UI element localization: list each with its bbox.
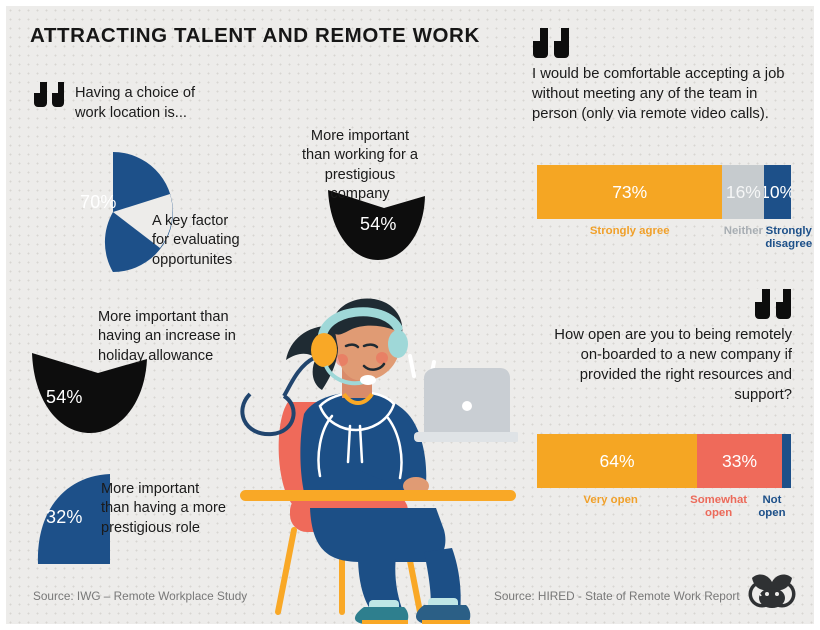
bar-segment-strongly-agree[interactable]: 73% [537,165,722,219]
source-left: Source: IWG – Remote Workplace Study [33,589,247,603]
lead-quote-block: Having a choice of work location is... [34,82,195,123]
bar-segment-very-open[interactable]: 64% [537,434,697,488]
quote-text-remote-hiring: I would be comfortable accepting a job w… [532,65,792,125]
infographic-canvas: ATTRACTING TALENT AND REMOTE WORK Having… [0,0,820,630]
stacked-bar-remote-onboarding: 64% 33% Very open Somewhat open Not open [537,434,791,521]
pie-label-54-a: More important than working for a presti… [296,127,424,204]
legend-very-open: Very open [537,494,684,521]
bar-legend-remote-hiring: Strongly agree Neither Strongly disagree [537,225,791,252]
quote-block-remote-hiring: I would be comfortable accepting a job w… [532,28,792,125]
hippo-binoculars-logo [748,568,796,612]
quote-block-remote-onboarding: How open are you to being remotely on-bo… [532,289,792,406]
quote-text-remote-onboarding: How open are you to being remotely on-bo… [532,326,792,406]
bar-track: 73% 16% 10% [537,165,791,219]
bar-segment-strongly-disagree[interactable]: 10% [764,165,791,219]
legend-strongly-disagree: Strongly disagree [764,225,813,252]
legend-not-open: Not open [753,494,791,521]
legend-strongly-agree: Strongly agree [537,225,722,252]
lead-quote-text: Having a choice of work location is... [75,82,195,123]
pie-label-54-b: More important than having an increase i… [98,308,236,366]
source-right: Source: HIRED - State of Remote Work Rep… [494,589,740,603]
quote-mark-icon [533,28,569,58]
legend-somewhat-open: Somewhat open [684,494,753,521]
pie-label-70: A key factor for evaluating opportunites [152,212,240,270]
legend-neither: Neither [722,225,764,252]
bar-legend-remote-onboarding: Very open Somewhat open Not open [537,494,791,521]
quote-mark-icon [34,82,64,107]
bar-segment-somewhat-open[interactable]: 33% [697,434,782,488]
pie-label-32: More important than having a more presti… [101,480,226,538]
bar-segment-neither[interactable]: 16% [722,165,764,219]
stacked-bar-remote-hiring: 73% 16% 10% Strongly agree Neither Stron… [537,165,791,252]
bar-segment-not-open[interactable] [782,434,791,488]
right-column: I would be comfortable accepting a job w… [506,6,820,624]
remote-worker-illustration [238,294,518,624]
quote-mark-icon [755,289,791,319]
bar-track: 64% 33% [537,434,791,488]
